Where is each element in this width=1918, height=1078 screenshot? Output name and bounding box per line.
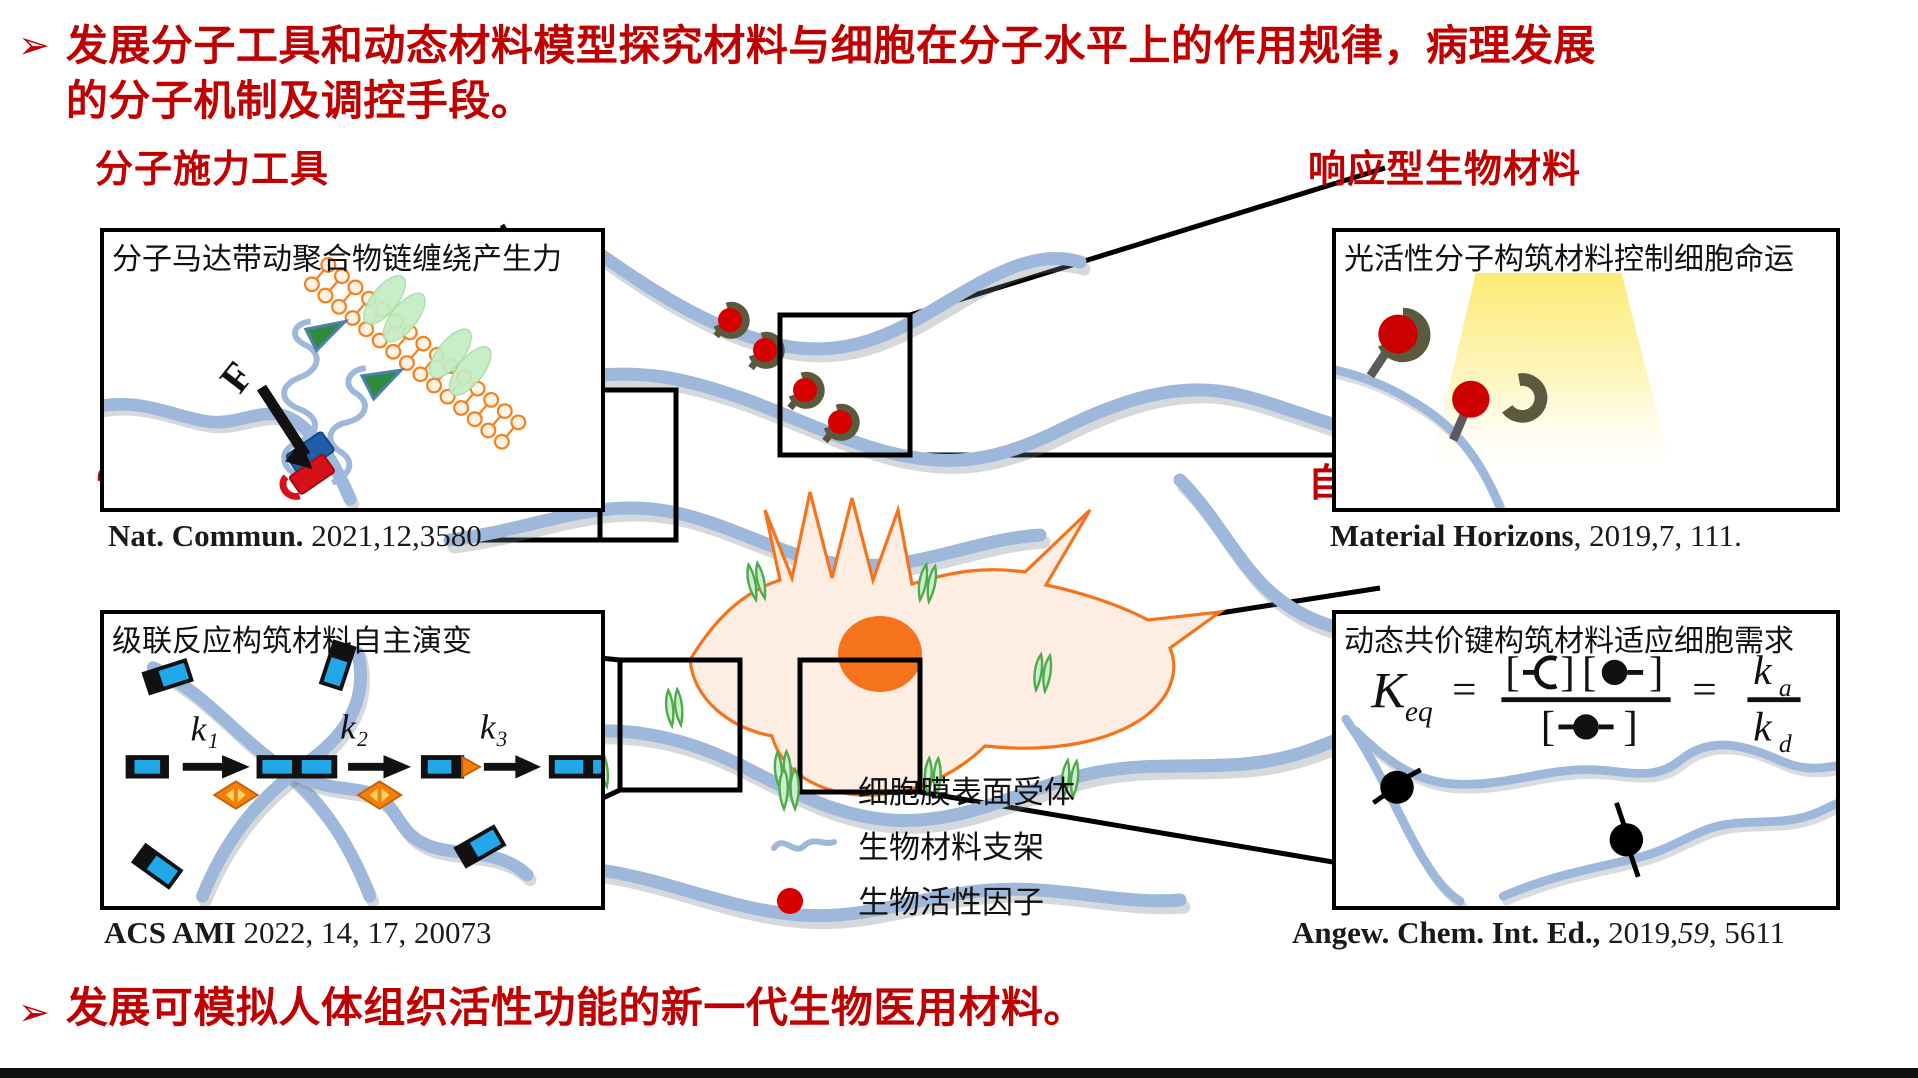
svg-text:=: = <box>1692 667 1716 714</box>
building-block-free-3 <box>131 843 184 890</box>
svg-text:[: [ <box>1541 704 1555 751</box>
panel-title-top-left: 分子施力工具 <box>95 138 329 193</box>
svg-text:K: K <box>1370 664 1408 720</box>
legend-label-scaffold: 生物材料支架 <box>858 822 1044 867</box>
legend-item-factor: 生物活性因子 <box>770 872 1075 927</box>
panel-top-right[interactable]: 光活性分子构筑材料控制细胞命运 <box>1332 228 1840 512</box>
rate-constant-k3: k₃ <box>480 708 508 747</box>
legend-label-receptor: 细胞膜表面受体 <box>858 767 1075 812</box>
panel-bottom-right[interactable]: 动态共价键构筑材料适应细胞需求 K eq <box>1332 610 1840 910</box>
panel-title-top-right: 响应型生物材料 <box>1308 138 1581 193</box>
rate-constant-k1: k₁ <box>191 710 219 749</box>
light-cone-icon <box>1430 273 1670 465</box>
panel-bottom-left[interactable]: 级联反应构筑材料自主演变 <box>100 610 605 910</box>
polymer-helix <box>302 255 554 473</box>
bullet-top: ➢ 发展分子工具和动态材料模型探究材料与细胞在分子水平上的作用规律，病理发展 的… <box>18 18 1888 129</box>
panel-caption-bottom-right: 动态共价键构筑材料适应细胞需求 <box>1344 616 1794 660</box>
slide-canvas: ➢ 发展分子工具和动态材料模型探究材料与细胞在分子水平上的作用规律，病理发展 的… <box>0 0 1918 1078</box>
panel-caption-top-right: 光活性分子构筑材料控制细胞命运 <box>1344 234 1794 278</box>
reaction-row <box>126 755 605 809</box>
legend-item-receptor: 细胞膜表面受体 <box>770 762 1075 817</box>
svg-text:]: ] <box>1623 704 1637 751</box>
legend: 细胞膜表面受体 生物材料支架 生物活性因子 <box>770 762 1075 927</box>
panel-caption-top-left: 分子马达带动聚合物链缠绕产生力 <box>112 234 562 278</box>
panel-caption-bottom-left: 级联反应构筑材料自主演变 <box>112 616 472 660</box>
membrane-receptor-icon <box>770 767 848 813</box>
bullet-bottom: ➢ 发展可模拟人体组织活性功能的新一代生物医用材料。 <box>18 985 1888 1031</box>
bullet-bottom-text: 发展可模拟人体组织活性功能的新一代生物医用材料。 <box>66 985 1086 1031</box>
cell-shape <box>690 492 1220 795</box>
bullet-top-text: 发展分子工具和动态材料模型探究材料与细胞在分子水平上的作用规律，病理发展 的分子… <box>66 18 1596 129</box>
scaffold-fiber-icon <box>770 822 848 868</box>
force-label: F <box>210 353 262 401</box>
panel-top-left[interactable]: 分子马达带动聚合物链缠绕产生力 <box>100 228 605 512</box>
svg-text:eq: eq <box>1405 696 1433 728</box>
equilibrium-equation: K eq = [ ] [ ] [ <box>1370 647 1800 758</box>
bullet-arrow-icon: ➢ <box>18 26 50 64</box>
svg-text:=: = <box>1452 667 1476 714</box>
rate-constant-k2: k₂ <box>340 708 368 747</box>
photoswitch-factor-1 <box>1370 315 1423 376</box>
svg-text:d: d <box>1779 729 1792 758</box>
svg-text:k: k <box>1753 704 1772 750</box>
citation-top-right: Material Horizons, 2019,7, 111. <box>1330 518 1742 554</box>
citation-top-left: Nat. Commun. 2021,12,3580 <box>108 518 482 554</box>
bottom-rule <box>0 1068 1918 1078</box>
legend-item-scaffold: 生物材料支架 <box>770 817 1075 872</box>
legend-label-factor: 生物活性因子 <box>858 877 1044 922</box>
bullet-arrow-icon-bottom: ➢ <box>18 993 50 1031</box>
citation-bottom-right: Angew. Chem. Int. Ed., 2019,59, 5611 <box>1292 915 1785 951</box>
cell-nucleus <box>838 616 922 692</box>
citation-bottom-left: ACS AMI 2022, 14, 17, 20073 <box>104 915 492 951</box>
bioactive-factor-icon <box>770 877 848 923</box>
